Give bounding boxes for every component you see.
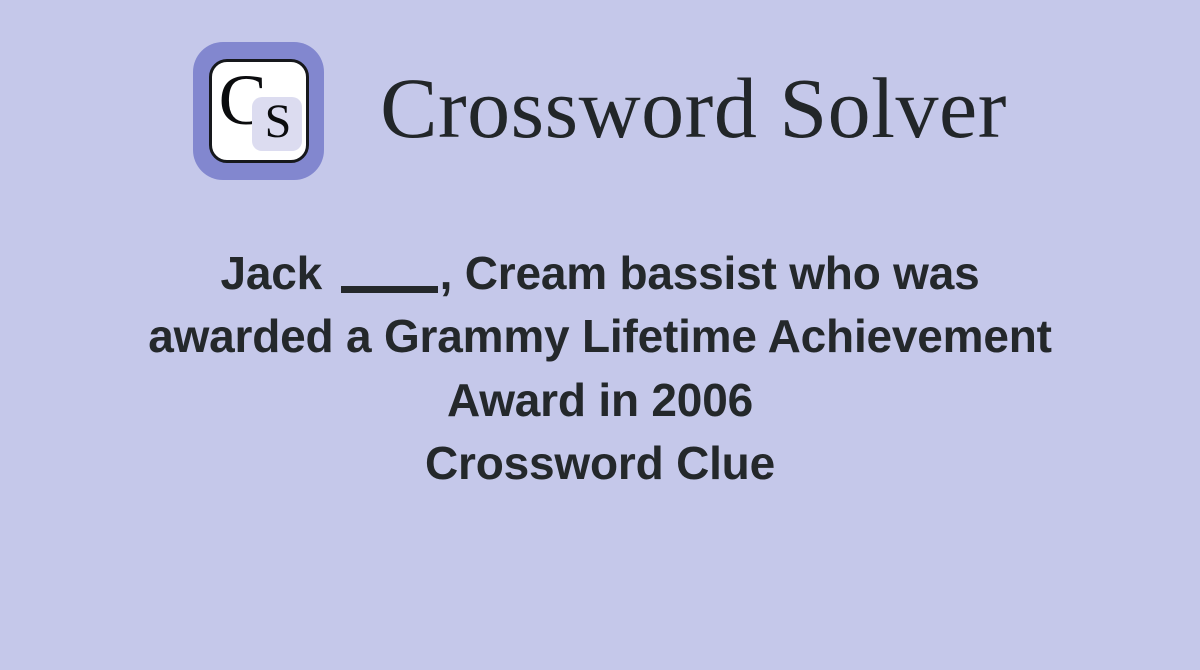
clue-blank xyxy=(341,286,438,293)
logo-letter-s: S xyxy=(265,98,292,146)
clue-subtitle: Crossword Clue xyxy=(10,432,1190,495)
clue-block: Jack , Cream bassist who was awarded a G… xyxy=(10,242,1190,496)
clue-line-2: awarded a Grammy Lifetime Achievement xyxy=(10,305,1190,368)
site-title[interactable]: Crossword Solver xyxy=(380,65,1007,157)
page-root: C S Crossword Solver Jack , Cream bassis… xyxy=(0,0,1200,670)
page-title: Jack , Cream bassist who was awarded a G… xyxy=(10,242,1190,496)
logo-inner-tile: C S xyxy=(209,59,309,163)
site-header[interactable]: C S Crossword Solver xyxy=(193,42,1007,180)
clue-line-1: Jack , Cream bassist who was xyxy=(10,242,1190,305)
clue-text-before-blank: Jack xyxy=(220,247,334,299)
clue-line-3: Award in 2006 xyxy=(10,369,1190,432)
site-logo[interactable]: C S xyxy=(193,42,324,180)
logo-s-tile: S xyxy=(252,97,302,151)
clue-text-after-blank: , Cream bassist who was xyxy=(440,247,980,299)
